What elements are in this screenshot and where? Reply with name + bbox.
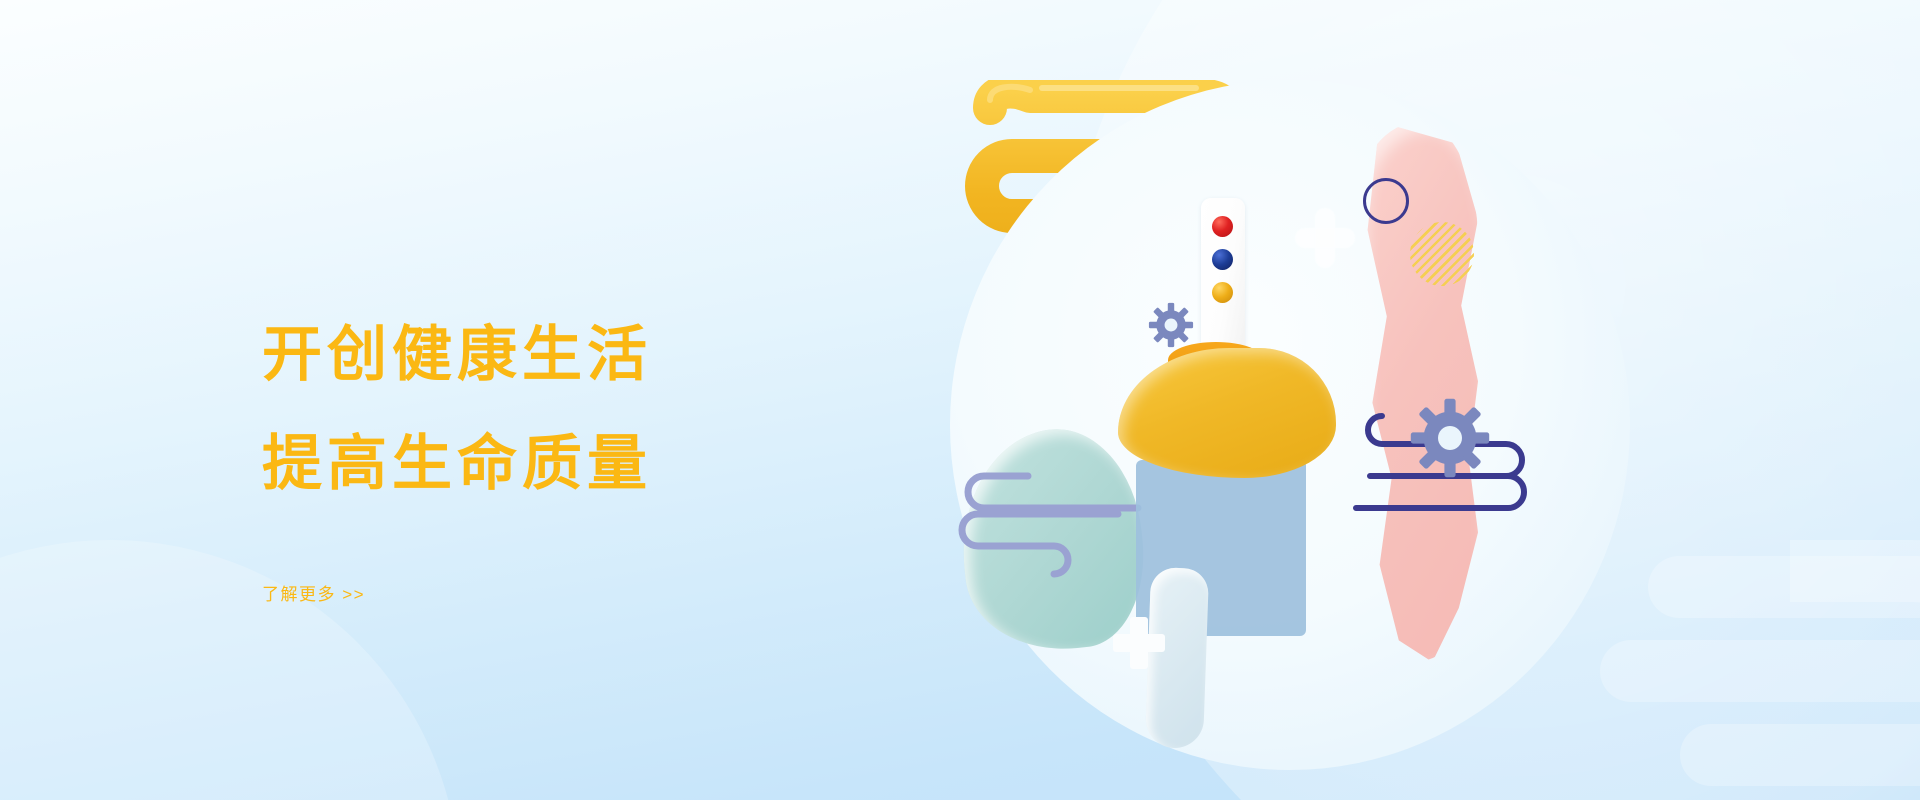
digestive-system-illustration — [950, 80, 1630, 770]
pill-navy — [1212, 249, 1233, 270]
cross-white-icon — [1113, 617, 1165, 669]
hero-banner: 开创健康生活 提高生命质量 了解更多 >> — [0, 0, 1920, 800]
learn-more-link[interactable]: 了解更多 >> — [262, 580, 365, 605]
gear-large-icon — [1410, 398, 1490, 478]
hero-copy-block: 开创健康生活 提高生命质量 了解更多 >> — [262, 300, 902, 605]
pill-red — [1212, 216, 1233, 237]
gear-small-icon — [1148, 302, 1194, 348]
cross-soft-icon — [1295, 208, 1355, 268]
striped-circle — [1410, 222, 1474, 286]
pill-yellow — [1212, 282, 1233, 303]
headline-line-1: 开创健康生活 — [262, 300, 902, 409]
wire-left — [950, 458, 1150, 578]
ring-outline-icon — [1363, 178, 1409, 224]
background-tube-arc — [1790, 540, 1920, 782]
headline-line-2: 提高生命质量 — [262, 409, 902, 518]
